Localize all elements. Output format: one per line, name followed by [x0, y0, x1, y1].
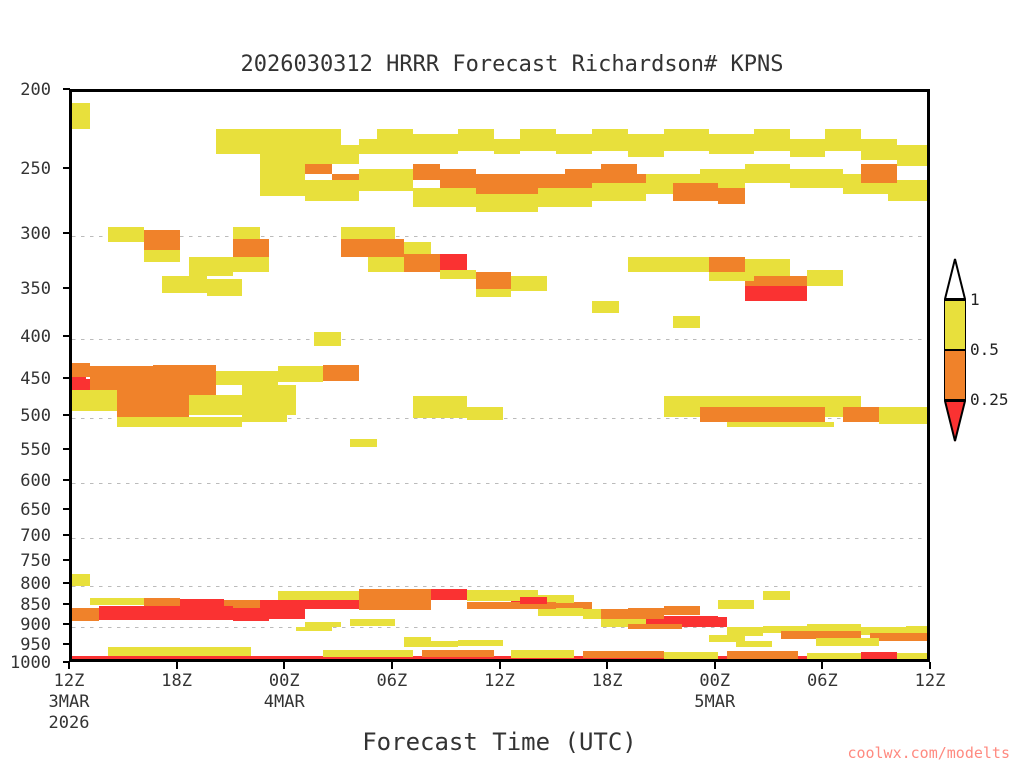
heatmap-cell — [296, 627, 332, 632]
heatmap-cell — [718, 188, 745, 204]
heatmap-cell — [816, 638, 879, 646]
heatmap-cell — [413, 188, 476, 207]
heatmap-cell — [99, 606, 234, 620]
y-tick-label: 900 — [20, 615, 51, 635]
y-axis: 2002503003504004505005506006507007508008… — [0, 89, 63, 662]
heatmap-cell — [278, 366, 323, 382]
heatmap-cell — [350, 619, 395, 625]
heatmap-cell — [368, 257, 404, 272]
heatmap-cell — [718, 600, 754, 610]
heatmap-cell — [440, 270, 476, 279]
heatmap-cell — [807, 653, 861, 659]
y-tick-label: 950 — [20, 635, 51, 655]
heatmap-cell — [467, 407, 503, 419]
heatmap-cell — [861, 164, 897, 182]
heatmap-cell — [897, 145, 930, 166]
heatmap-cell — [278, 591, 359, 600]
heatmap-cell — [413, 134, 458, 154]
plot-area — [69, 89, 930, 662]
x-tick-date-label: 5MAR — [685, 692, 745, 712]
heatmap-cell — [162, 276, 207, 294]
heatmap-cell — [745, 164, 790, 182]
heatmap-cell — [260, 145, 305, 164]
heatmap-cell — [879, 410, 930, 424]
colorbar-segment — [944, 350, 966, 400]
heatmap-cell — [754, 129, 790, 151]
heatmap-cell — [242, 415, 287, 422]
x-tick-label: 12Z — [900, 671, 960, 691]
x-tick-mark — [929, 662, 931, 669]
heatmap-cell — [592, 301, 619, 313]
colorbar: 10.50.25 — [944, 300, 966, 450]
heatmap-cell — [745, 276, 808, 286]
colorbar-tick-label: 1 — [970, 290, 980, 309]
heatmap-cell — [888, 180, 930, 202]
heatmap-cell — [709, 257, 745, 272]
y-tick-label: 700 — [20, 526, 51, 546]
heatmap-cell — [72, 608, 99, 622]
heatmap-cells — [72, 92, 927, 659]
heatmap-cell — [897, 653, 930, 659]
heatmap-cell — [359, 589, 431, 602]
colorbar-tick-label: 0.5 — [970, 340, 999, 359]
heatmap-cell — [709, 134, 754, 154]
heatmap-cell — [709, 272, 754, 280]
heatmap-cell — [323, 650, 413, 657]
heatmap-cell — [350, 439, 377, 447]
x-tick-mark — [176, 662, 178, 669]
heatmap-cell — [476, 194, 539, 212]
heatmap-cell — [422, 650, 494, 657]
heatmap-cell — [108, 227, 144, 243]
heatmap-cell — [476, 289, 512, 297]
x-tick-mark — [391, 662, 393, 669]
heatmap-cell — [72, 390, 117, 411]
heatmap-cell — [269, 609, 305, 619]
heatmap-cell — [476, 174, 521, 193]
heatmap-cell — [592, 129, 628, 151]
heatmap-cell — [763, 591, 790, 600]
heatmap-cell — [260, 600, 359, 610]
heatmap-cell — [458, 640, 503, 646]
heatmap-cell — [404, 637, 431, 642]
x-tick-label: 12Z — [39, 671, 99, 691]
heatmap-cell — [108, 647, 252, 656]
heatmap-cell — [843, 407, 879, 421]
y-tick-label: 600 — [20, 471, 51, 491]
heatmap-cell — [341, 239, 404, 257]
heatmap-cell — [520, 129, 556, 151]
heatmap-cell — [117, 395, 189, 417]
heatmap-cell — [664, 129, 709, 151]
heatmap-cell — [538, 188, 592, 207]
colorbar-tick-label: 0.25 — [970, 390, 1009, 409]
x-tick-mark — [821, 662, 823, 669]
x-tick-date-label: 4MAR — [254, 692, 314, 712]
heatmap-cell — [144, 598, 180, 606]
heatmap-cell — [458, 129, 494, 151]
heatmap-cell — [413, 164, 440, 180]
y-tick-label: 800 — [20, 574, 51, 594]
x-tick-label: 18Z — [147, 671, 207, 691]
colorbar-segment — [944, 300, 966, 350]
heatmap-cell — [440, 254, 467, 271]
x-tick-mark — [283, 662, 285, 669]
x-tick-label: 06Z — [792, 671, 852, 691]
y-tick-label: 550 — [20, 440, 51, 460]
heatmap-cell — [664, 652, 718, 658]
heatmap-cell — [476, 272, 512, 289]
heatmap-cell — [323, 365, 359, 381]
heatmap-cell — [341, 227, 395, 239]
heatmap-cell — [72, 574, 90, 585]
heatmap-cell — [825, 129, 861, 151]
y-tick-label: 250 — [20, 159, 51, 179]
heatmap-cell — [628, 624, 682, 630]
heatmap-cell — [242, 385, 296, 415]
y-tick-label: 200 — [20, 80, 51, 100]
heatmap-cell — [601, 609, 664, 618]
heatmap-cell — [216, 371, 279, 385]
x-tick-date-label: 3MAR — [39, 692, 99, 712]
heatmap-cell — [153, 379, 216, 395]
y-tick-label: 400 — [20, 327, 51, 347]
heatmap-cell — [628, 134, 664, 157]
heatmap-cell — [807, 270, 843, 286]
heatmap-cell — [189, 257, 234, 276]
heatmap-cell — [494, 139, 521, 154]
heatmap-cell — [718, 396, 862, 407]
x-tick-label: 00Z — [685, 671, 745, 691]
heatmap-cell — [906, 626, 930, 634]
heatmap-cell — [556, 134, 592, 154]
chart-canvas: 2026030312 HRRR Forecast Richardson# KPN… — [0, 0, 1024, 768]
watermark: coolwx.com/modelts — [847, 744, 1010, 762]
heatmap-cell — [736, 641, 772, 647]
heatmap-cell — [861, 652, 897, 658]
heatmap-cell — [72, 363, 90, 377]
x-tick-label: 00Z — [254, 671, 314, 691]
x-tick-mark — [714, 662, 716, 669]
y-tick-label: 300 — [20, 224, 51, 244]
heatmap-cell — [413, 396, 467, 418]
heatmap-cell — [511, 650, 574, 657]
heatmap-cell — [233, 227, 260, 239]
y-tick-label: 500 — [20, 406, 51, 426]
heatmap-cell — [90, 598, 144, 605]
heatmap-cell — [144, 230, 180, 250]
heatmap-cell — [305, 129, 341, 145]
heatmap-cell — [359, 602, 431, 610]
heatmap-cell — [305, 180, 359, 202]
heatmap-cell — [790, 169, 844, 189]
y-tick-label: 750 — [20, 551, 51, 571]
heatmap-cell — [260, 164, 305, 196]
y-tick-label: 450 — [20, 369, 51, 389]
heatmap-cell — [511, 276, 547, 292]
heatmap-cell — [700, 407, 826, 421]
heatmap-cell — [745, 286, 808, 301]
heatmap-cell — [144, 250, 180, 261]
heatmap-cell — [233, 608, 269, 622]
colorbar-under-arrow-outline — [944, 400, 966, 442]
x-tick-label: 06Z — [362, 671, 422, 691]
x-tick-mark — [606, 662, 608, 669]
heatmap-cell — [305, 164, 332, 174]
heatmap-cell — [431, 589, 467, 599]
y-tick-label: 350 — [20, 279, 51, 299]
x-tick-mark — [499, 662, 501, 669]
heatmap-cell — [207, 279, 243, 296]
x-tick-label: 12Z — [470, 671, 530, 691]
heatmap-cell — [520, 597, 547, 604]
heatmap-cell — [601, 164, 637, 182]
heatmap-cell — [404, 254, 440, 273]
heatmap-cell — [538, 608, 583, 616]
heatmap-cell — [861, 139, 897, 160]
heatmap-cell — [592, 183, 646, 202]
x-axis-title: Forecast Time (UTC) — [69, 728, 930, 756]
heatmap-cell — [727, 651, 799, 658]
heatmap-cell — [673, 183, 718, 202]
heatmap-cell — [153, 365, 216, 380]
chart-title: 2026030312 HRRR Forecast Richardson# KPN… — [0, 52, 1024, 77]
heatmap-cell — [673, 316, 700, 328]
heatmap-cell — [583, 651, 664, 658]
heatmap-cell — [790, 139, 826, 157]
heatmap-cell — [314, 332, 341, 346]
heatmap-cell — [359, 169, 413, 191]
y-tick-label: 850 — [20, 595, 51, 615]
heatmap-cell — [628, 257, 709, 272]
x-tick-label: 18Z — [577, 671, 637, 691]
heatmap-cell — [664, 606, 700, 614]
heatmap-cell — [117, 417, 243, 427]
x-tick-mark — [68, 662, 70, 669]
heatmap-cell — [72, 103, 90, 130]
heatmap-cell — [440, 169, 476, 189]
heatmap-cell — [359, 139, 377, 154]
heatmap-cell — [233, 239, 269, 257]
heatmap-cell — [727, 422, 835, 427]
y-tick-label: 1000 — [10, 653, 51, 673]
heatmap-cell — [189, 395, 243, 415]
heatmap-cell — [377, 129, 413, 154]
heatmap-cell — [305, 145, 359, 164]
y-tick-label: 650 — [20, 500, 51, 520]
heatmap-cell — [90, 366, 153, 379]
heatmap-cell — [233, 257, 269, 272]
heatmap-cell — [664, 396, 718, 407]
colorbar-over-arrow-outline — [944, 258, 966, 300]
